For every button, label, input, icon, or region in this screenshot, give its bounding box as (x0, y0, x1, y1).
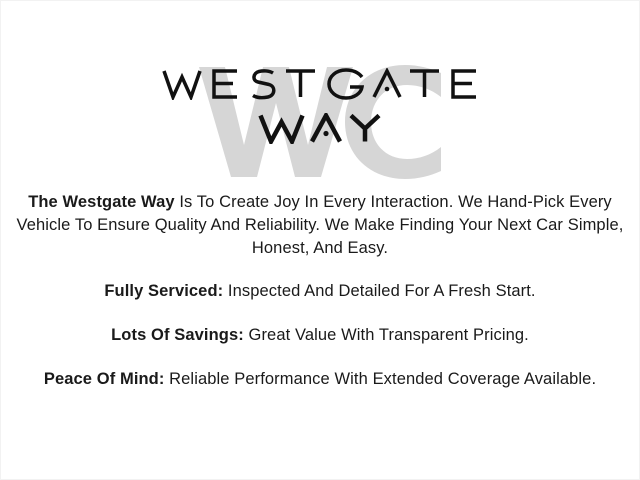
paragraph-lead: Fully Serviced: (104, 282, 223, 300)
wordmark-westgate (162, 67, 478, 101)
body-copy: The Westgate Way Is To Create Joy In Eve… (1, 191, 639, 391)
brand-wordmark (162, 67, 478, 143)
paragraph-lots-of-savings: Lots Of Savings: Great Value With Transp… (15, 324, 625, 347)
paragraph-lead: Peace Of Mind: (44, 370, 165, 388)
wordmark-way (258, 113, 382, 143)
paragraph-text: Inspected And Detailed For A Fresh Start… (223, 282, 535, 300)
paragraph-lead: The Westgate Way (28, 193, 174, 211)
westgate-way-promo-card: The Westgate Way Is To Create Joy In Eve… (0, 0, 640, 480)
paragraph-lead: Lots Of Savings: (111, 326, 244, 344)
brand-logo-block (1, 1, 639, 191)
paragraph-text: Great Value With Transparent Pricing. (244, 326, 529, 344)
paragraph-fully-serviced: Fully Serviced: Inspected And Detailed F… (15, 280, 625, 303)
paragraph-text: Reliable Performance With Extended Cover… (164, 370, 596, 388)
paragraph-westgate-way: The Westgate Way Is To Create Joy In Eve… (15, 191, 625, 259)
paragraph-peace-of-mind: Peace Of Mind: Reliable Performance With… (15, 368, 625, 391)
